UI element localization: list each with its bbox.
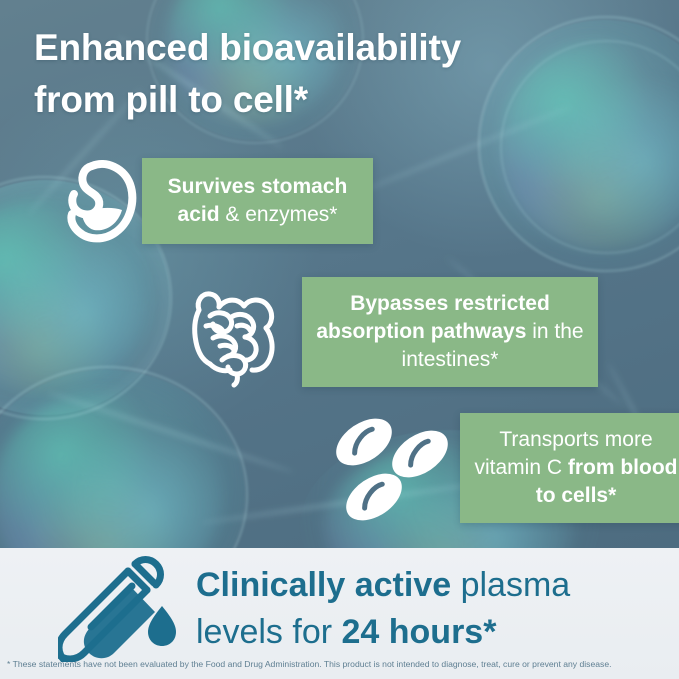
footer-banner: Clinically active plasma levels for 24 h…: [0, 548, 679, 679]
callout-bold-2: absorption pathways: [316, 320, 526, 343]
callout-text-intestines: Bypasses restricted absorption pathways …: [302, 290, 598, 374]
page-title: Enhanced bioavailability from pill to ce…: [34, 22, 594, 126]
callout-text-stomach: Survives stomach acid & enzymes*: [158, 173, 358, 229]
callout-box-blood: Transports more vitamin C from blood to …: [460, 413, 679, 523]
headline-line-2: from pill to cell*: [34, 74, 594, 126]
infographic-canvas: Enhanced bioavailability from pill to ce…: [0, 0, 679, 679]
callout-bold-2: acid: [178, 203, 220, 226]
test-tube-icon: [58, 554, 188, 662]
blood-cells-icon: [334, 412, 458, 524]
intestines-icon: [182, 280, 290, 388]
callout-regular: & enzymes*: [220, 203, 338, 226]
footer-bold-1: Clinically active: [196, 566, 451, 604]
footer-headline: Clinically active plasma levels for 24 h…: [196, 562, 666, 656]
callout-box-intestines: Bypasses restricted absorption pathways …: [302, 277, 598, 387]
stomach-icon: [48, 152, 152, 256]
callout-bold-1: Survives stomach: [168, 175, 348, 198]
callout-text-blood: Transports more vitamin C from blood to …: [460, 426, 679, 510]
headline-line-1: Enhanced bioavailability: [34, 27, 461, 68]
footer-bold-2: 24 hours*: [342, 613, 497, 651]
callout-bold-1: Bypasses restricted: [350, 292, 550, 315]
disclaimer-text: * These statements have not been evaluat…: [7, 658, 675, 670]
callout-box-stomach: Survives stomach acid & enzymes*: [142, 158, 373, 244]
